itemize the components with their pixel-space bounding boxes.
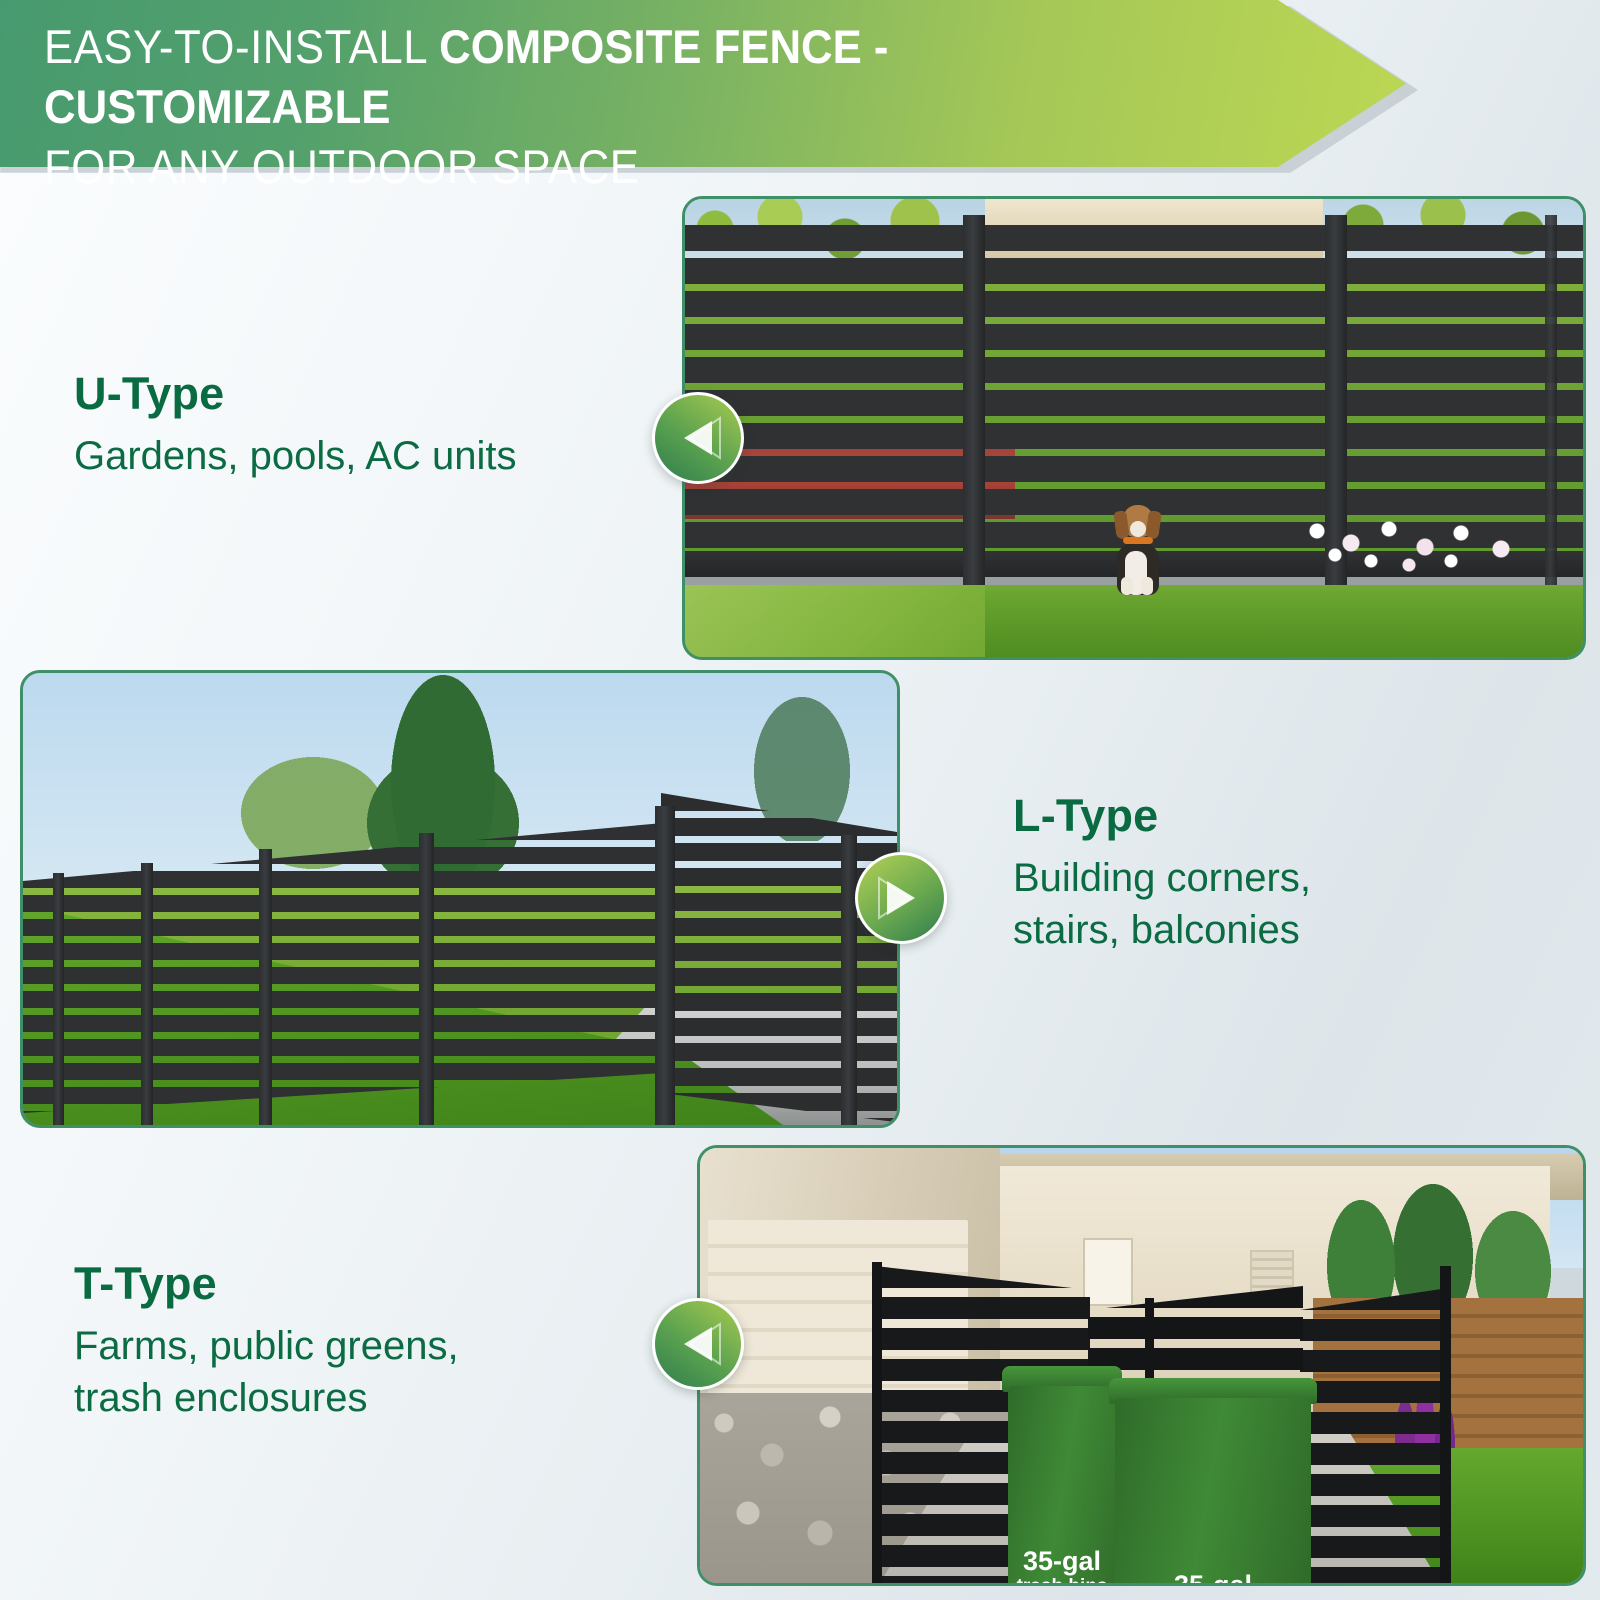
headline-light: EASY-TO-INSTALL	[44, 20, 439, 73]
photo-u-type	[682, 196, 1586, 660]
fence-post	[963, 215, 985, 585]
fence-post	[1545, 215, 1557, 585]
dog	[1109, 499, 1167, 595]
dog-ear	[1145, 510, 1162, 540]
section-description: Building corners, stairs, balconies	[1013, 852, 1533, 956]
fence-post	[841, 835, 857, 1128]
fence-post-corner	[655, 806, 675, 1128]
fence-post	[419, 833, 434, 1128]
dog-leg	[1121, 577, 1133, 595]
section-title: U-Type	[74, 368, 654, 420]
dog-muzzle	[1130, 521, 1146, 537]
header-banner: EASY-TO-INSTALL COMPOSITE FENCE - CUSTOM…	[0, 0, 1600, 200]
section-description: Farms, public greens, trash enclosures	[74, 1320, 634, 1424]
trash-bin: 35-gal trash bins	[1008, 1386, 1116, 1586]
fence-post	[1440, 1266, 1451, 1586]
fence-wing-right	[661, 793, 900, 1123]
section-title: T-Type	[74, 1258, 634, 1310]
section-title: L-Type	[1013, 790, 1533, 842]
fence-post	[141, 863, 153, 1128]
trash-bin: 35-gal trash bins	[1115, 1398, 1311, 1586]
photo-t-type: 35-gal trash bins 35-gal trash bins	[697, 1145, 1586, 1586]
bin-label: 35-gal trash bins	[1115, 1570, 1311, 1586]
bin-label-gal: 35-gal	[1115, 1570, 1311, 1586]
section-description: Gardens, pools, AC units	[74, 430, 654, 482]
section-l-type-text: L-Type Building corners, stairs, balconi…	[1013, 790, 1533, 956]
section-t-type-text: T-Type Farms, public greens, trash enclo…	[74, 1258, 634, 1424]
photo-l-type	[20, 670, 900, 1128]
bin-label-gal: 35-gal	[1008, 1546, 1116, 1576]
section-u-type-text: U-Type Gardens, pools, AC units	[74, 368, 654, 482]
arrow-left-icon[interactable]	[652, 392, 744, 484]
bin-label-type: trash bins	[1008, 1576, 1116, 1586]
scene-l-type	[23, 673, 897, 1125]
white-flowers	[1305, 521, 1535, 579]
scene-t-type: 35-gal trash bins 35-gal trash bins	[700, 1148, 1583, 1583]
dog-collar	[1123, 537, 1153, 544]
fence-post	[872, 1262, 882, 1586]
scene-u-type	[685, 199, 1583, 657]
headline-line2: FOR ANY OUTDOOR SPACE	[44, 140, 639, 193]
bin-body	[1115, 1398, 1311, 1586]
arrow-left-icon[interactable]	[652, 1298, 744, 1390]
bin-label: 35-gal trash bins	[1008, 1546, 1116, 1586]
dog-leg	[1141, 577, 1153, 595]
house-door	[1083, 1238, 1133, 1306]
fence-post	[259, 849, 272, 1128]
arrow-right-icon[interactable]	[855, 852, 947, 944]
fence-post	[53, 873, 64, 1128]
headline: EASY-TO-INSTALL COMPOSITE FENCE - CUSTOM…	[44, 17, 1197, 197]
fence-wing-right	[1300, 1288, 1448, 1586]
